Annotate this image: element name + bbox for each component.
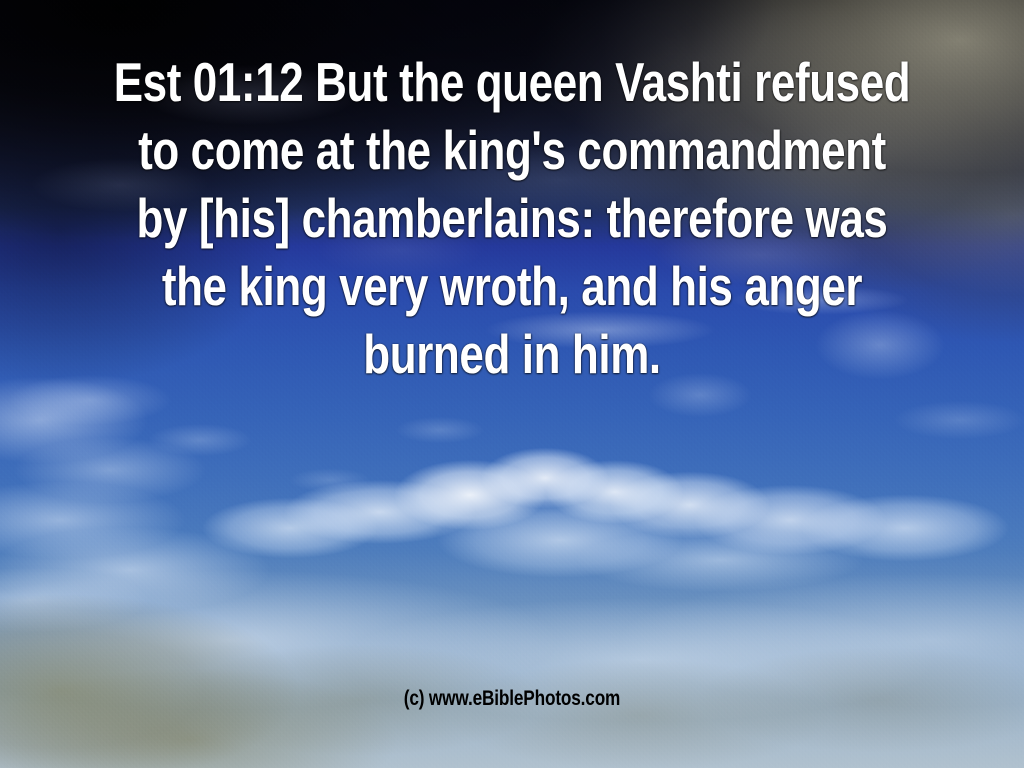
verse-text-block: Est 01:12 But the queen Vashti refused t…: [0, 48, 1024, 388]
verse-photo-canvas: Est 01:12 But the queen Vashti refused t…: [0, 0, 1024, 768]
verse-line-4: the king very wroth, and his anger: [102, 252, 921, 320]
verse-line-5: burned in him.: [102, 320, 921, 388]
verse-line-2: to come at the king's commandment: [102, 116, 921, 184]
verse-line-3: by [his] chamberlains: therefore was: [102, 184, 921, 252]
watermark-text: (c) www.eBiblePhotos.com: [404, 688, 620, 709]
copyright-watermark: (c) www.eBiblePhotos.com: [0, 688, 1024, 710]
verse-line-1: Est 01:12 But the queen Vashti refused: [102, 48, 921, 116]
